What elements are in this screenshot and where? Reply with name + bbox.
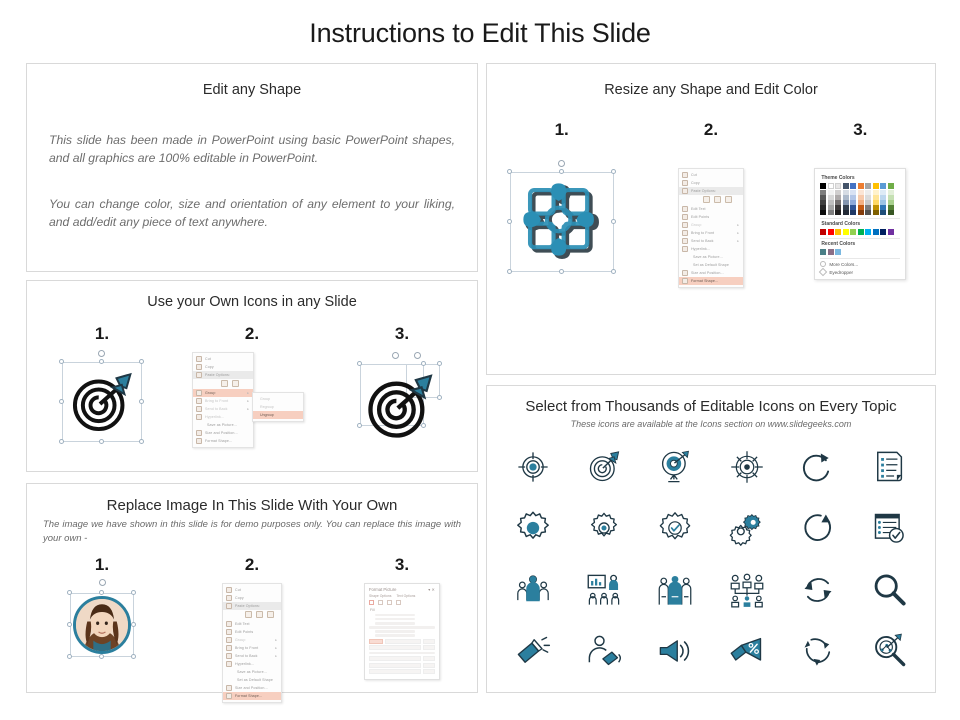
org-chart-icon[interactable] [726,569,768,611]
context-menu[interactable]: Cut Copy Paste Options: Edit Text Edit P… [222,583,282,703]
replace-image-step-1: 1. [27,555,177,703]
copy-icon [196,364,202,370]
menu-item-copy[interactable]: Copy [223,594,281,602]
resize-handle-ne[interactable] [421,361,426,366]
transparency-value[interactable] [423,645,435,650]
menu-item-set-as-default-shape[interactable]: Set as Default Shape [223,676,281,684]
slide-canvas: Instructions to Edit This Slide Edit any… [0,0,960,720]
theme-color-swatch[interactable] [865,183,871,189]
menu-item-send-to-back[interactable]: Send to Back▸ [679,237,743,245]
format-shape-icon [196,438,202,444]
submenu-item-regroup[interactable]: Regroup [253,403,303,411]
resize-handle-e[interactable] [131,622,136,627]
menu-item-edit-points[interactable]: Edit Points [679,213,743,221]
resize-handle-w[interactable] [507,219,512,224]
menu-item-group[interactable]: Group▸ [193,389,253,397]
theme-shade-swatch[interactable] [843,210,849,215]
group-icon [196,390,202,396]
standard-colors-label: Standard Colors [821,221,900,227]
divider [820,218,900,219]
standard-color-swatch[interactable] [858,229,864,235]
option-gradient-fill[interactable] [375,622,415,625]
resize-handle-s[interactable] [99,439,104,444]
step-number: 1. [95,555,109,575]
checklist-check-icon[interactable] [868,507,910,549]
panel-title-resize-shape: Resize any Shape and Edit Color [487,82,935,98]
fill-bucket-icon[interactable] [369,600,374,605]
dartboard-arrow-icon[interactable] [583,446,625,488]
resize-handle-nw[interactable] [507,169,512,174]
presentation-audience-icon[interactable] [583,569,625,611]
step-number: 3. [395,555,409,575]
panel-title-replace-image: Replace Image In This Slide With Your Ow… [27,497,477,514]
format-pane-header: Format Picture ▾ ✕ [369,587,435,592]
paste-picture-icon[interactable] [267,611,274,618]
resize-handle-n[interactable] [559,169,564,174]
shape-selected[interactable] [502,160,622,280]
panel-title-editable-icons: Select from Thousands of Editable Icons … [487,398,935,415]
resize-handle-se[interactable] [139,439,144,444]
rotate-handle-icon[interactable] [99,579,106,586]
panel-use-your-own-icons: Use your Own Icons in any Slide 1. [26,280,478,472]
rotate-handle-icon[interactable] [98,350,105,357]
standard-color-swatch[interactable] [865,229,871,235]
format-field[interactable] [369,669,421,674]
menu-item-group[interactable]: Group▸ [679,221,743,229]
recent-color-swatch[interactable] [828,249,834,255]
bring-to-front-icon [196,398,202,404]
avatar [73,596,131,654]
paste-merge-icon[interactable] [714,196,721,203]
format-row-extra-1 [369,652,435,655]
menu-item-hyperlink[interactable]: Hyperlink... [679,245,743,253]
chevron-right-icon: ▸ [737,223,739,227]
menu-item-size-and-position[interactable]: Size and Position... [679,269,743,277]
own-icons-step-1: 1. [27,324,177,450]
menu-item-format-shape[interactable]: Format Shape... [223,692,281,700]
tab-text-options[interactable]: Text Options [396,594,415,598]
standard-colors-row[interactable] [820,229,900,235]
megaphone-icon[interactable] [512,630,554,672]
recent-colors-label: Recent Colors [821,241,900,247]
resize-handle-w[interactable] [59,399,64,404]
gear-check-icon[interactable] [654,507,696,549]
paste-keep-formatting-icon[interactable] [703,196,710,203]
gear-filled-icon[interactable] [512,507,554,549]
divider [820,238,900,239]
icon-gallery [497,436,925,682]
group-submenu[interactable]: Group Regroup Ungroup [252,392,304,422]
format-field-value[interactable] [423,663,435,668]
four-square-gear-shape-icon [518,180,606,264]
edit-text-icon [226,621,232,627]
step-number: 1. [555,120,569,140]
panel-edit-any-shape: Edit any Shape This slide has been made … [26,63,478,272]
theme-shade-swatch[interactable] [880,210,886,215]
standard-color-swatch[interactable] [873,229,879,235]
own-icons-step-2: 2. Cut Copy Paste Options: Group▸ Bring … [177,324,327,450]
paste-options-row[interactable] [679,195,743,205]
copy-icon [682,180,688,186]
chevron-right-icon: ▸ [275,646,277,650]
resize-handle-nw[interactable] [357,361,362,366]
dartboard-arrow-icon [364,370,436,442]
target-crosshair-icon[interactable] [512,446,554,488]
paste-keep-formatting-icon[interactable] [245,611,252,618]
resize-handle-ne[interactable] [131,590,136,595]
menu-item-bring-to-front[interactable]: Bring to Front▸ [193,397,253,405]
three-arrows-cycle-icon[interactable] [797,630,839,672]
paste-icon [226,603,232,609]
panel-resize-shape-edit-color: Resize any Shape and Edit Color 1. [486,63,936,375]
submenu-item-ungroup[interactable]: Ungroup [253,411,303,419]
paste-icon [196,372,202,378]
resize-handle-s[interactable] [559,269,564,274]
theme-color-swatch[interactable] [850,183,856,189]
chevron-right-icon: ▸ [247,399,249,403]
context-menu[interactable]: Cut Copy Paste Options: Group▸ Bring to … [192,352,254,448]
menu-item-hyperlink[interactable]: Hyperlink... [193,413,253,421]
standard-color-swatch[interactable] [828,229,834,235]
menu-item-send-to-back[interactable]: Send to Back▸ [193,405,253,413]
theme-color-swatch[interactable] [843,183,849,189]
cut-icon [682,172,688,178]
standard-color-swatch[interactable] [820,229,826,235]
format-section-fill: Fill [370,608,435,612]
resize-handle-e[interactable] [611,219,616,224]
size-position-icon [226,685,232,691]
standard-color-swatch[interactable] [843,229,849,235]
edit-points-icon [226,629,232,635]
size-position-icon [196,430,202,436]
format-row-extra-2[interactable] [369,656,435,661]
palette-icon [820,261,826,267]
editable-icons-subtitle: These icons are available at the Icons s… [487,418,935,431]
magnifier-icon[interactable] [868,569,910,611]
step-number: 1. [95,324,109,344]
more-colors-label: More Colors... [829,262,858,267]
standard-color-swatch[interactable] [888,229,894,235]
format-pane-title: Format Picture [369,587,396,592]
own-icons-step-3: 3. [327,324,477,450]
menu-item-cut[interactable]: Cut [193,355,253,363]
menu-item-save-as-picture[interactable]: Save as Picture... [193,421,253,429]
menu-item-edit-text[interactable]: Edit Text [223,620,281,628]
menu-item-edit-points[interactable]: Edit Points [223,628,281,636]
copy-icon [226,595,232,601]
megaphone-percent-icon[interactable] [726,630,768,672]
theme-color-swatch[interactable] [858,183,864,189]
standard-color-swatch[interactable] [880,229,886,235]
resize-handle-se[interactable] [131,654,136,659]
format-field-value[interactable] [423,656,435,661]
menu-item-paste-options[interactable]: Paste Options: [223,602,281,610]
edit-shape-paragraph-2: You can change color, size and orientati… [49,195,455,232]
eyedropper-label: Eyedropper [829,270,853,275]
menu-item-send-to-back[interactable]: Send to Back▸ [223,652,281,660]
theme-colors-top-row[interactable] [820,183,900,189]
person-megaphone-icon[interactable] [583,630,625,672]
bring-to-front-icon [226,645,232,651]
menu-item-paste-options[interactable]: Paste Options: [193,371,253,379]
paste-picture-icon[interactable] [725,196,732,203]
paste-options-row[interactable] [223,610,281,620]
paste-picture-icon[interactable] [232,380,239,387]
submenu-item-group[interactable]: Group [253,395,303,403]
format-row-extra-3[interactable] [369,663,435,668]
resize-handle-sw[interactable] [59,439,64,444]
replace-image-step-2: 2. Cut Copy Paste Options: Edit Text Edi… [177,555,327,703]
divider [820,258,900,259]
cut-icon [196,356,202,362]
theme-shade-swatch[interactable] [835,210,841,215]
resize-handle-sw[interactable] [507,269,512,274]
fill-color-picker-button[interactable] [423,639,435,644]
theme-colors-label: Theme Colors [821,175,900,181]
more-colors-button[interactable]: More Colors... [820,261,900,267]
target-icon-ungrouped[interactable] [356,350,448,450]
step-number: 2. [245,555,259,575]
chevron-right-icon: ▸ [275,654,277,658]
resize-handle-nw[interactable] [59,359,64,364]
theme-shade-swatch[interactable] [888,210,894,215]
chevron-right-icon: ▸ [275,638,277,642]
paste-options-row[interactable] [193,379,253,389]
menu-item-bring-to-front[interactable]: Bring to Front▸ [223,644,281,652]
cut-icon [226,587,232,593]
size-position-icon [682,270,688,276]
close-icon[interactable]: ▾ ✕ [428,587,435,592]
menu-item-save-as-picture[interactable]: Save as Picture... [679,253,743,261]
gear-small-icon[interactable] [583,507,625,549]
menu-item-format-shape[interactable]: Format Shape... [193,437,253,445]
step-number: 2. [245,324,259,344]
theme-color-swatch[interactable] [880,183,886,189]
chevron-right-icon: ▸ [737,239,739,243]
step-number: 3. [853,120,867,140]
edit-points-icon [682,214,688,220]
theme-shade-swatch[interactable] [873,210,879,215]
theme-color-swatch[interactable] [828,183,834,189]
target-icon-selected[interactable] [56,350,148,450]
menu-item-set-as-default-shape[interactable]: Set as Default Shape [679,261,743,269]
format-row-extra-4[interactable] [369,669,435,674]
edit-shape-paragraph-1: This slide has been made in PowerPoint u… [49,131,455,168]
menu-item-format-shape[interactable]: Format Shape... [679,277,743,285]
theme-shade-swatch[interactable] [850,210,856,215]
team-three-icon[interactable] [654,569,696,611]
transparency-slider[interactable] [369,645,421,650]
standard-color-swatch[interactable] [835,229,841,235]
checklist-document-icon[interactable] [868,446,910,488]
effects-icon[interactable] [378,600,383,605]
resize-handle-sw[interactable] [67,654,72,659]
format-field[interactable] [369,656,421,661]
theme-color-swatch[interactable] [888,183,894,189]
menu-item-size-and-position[interactable]: Size and Position... [193,429,253,437]
context-menu[interactable]: Cut Copy Paste Options: Edit Text Edit P… [678,168,744,288]
chevron-right-icon: ▸ [737,231,739,235]
panel-replace-image: Replace Image In This Slide With Your Ow… [26,483,478,693]
portrait-image-selected[interactable] [56,579,148,673]
theme-color-swatch[interactable] [873,183,879,189]
color-picker-panel[interactable]: Theme Colors Standard Colors Recent Colo… [814,168,906,280]
format-shape-icon [682,278,688,284]
format-field[interactable] [369,663,421,668]
two-arrows-cycle-icon[interactable] [797,569,839,611]
resize-handle-ne[interactable] [611,169,616,174]
menu-item-paste-options[interactable]: Paste Options: [679,187,743,195]
recent-color-swatch[interactable] [820,249,826,255]
theme-shade-swatch[interactable] [858,210,864,215]
send-to-back-icon [196,406,202,412]
step-number: 3. [395,324,409,344]
resize-handle-s[interactable] [99,654,104,659]
panel-title-use-your-own-icons: Use your Own Icons in any Slide [27,294,477,310]
refresh-arrow-icon[interactable] [797,446,839,488]
hyperlink-icon [226,661,232,667]
resize-step-2: 2. Cut Copy Paste Options: Edit Text Edi… [636,120,785,288]
menu-item-copy[interactable]: Copy [193,363,253,371]
resize-step-1: 1. [487,120,636,288]
hyperlink-icon [682,246,688,252]
theme-color-swatch[interactable] [820,183,826,189]
fill-color-swatch[interactable] [369,639,383,644]
paste-merge-icon[interactable] [256,611,263,618]
menu-item-cut[interactable]: Cut [679,171,743,179]
option-picture-texture-fill[interactable] [369,626,435,629]
eyedropper-button[interactable]: Eyedropper [820,269,900,275]
eyedropper-icon [819,268,827,276]
format-field-value[interactable] [423,669,435,674]
bring-to-front-icon [682,230,688,236]
fill-color-value[interactable] [385,639,421,644]
recent-color-swatch[interactable] [835,249,841,255]
theme-shade-swatch[interactable] [820,210,826,215]
menu-item-copy[interactable]: Copy [679,179,743,187]
resize-handle-n[interactable] [99,359,104,364]
dartboard-arrow-icon [69,369,135,435]
menu-item-hyperlink[interactable]: Hyperlink... [223,660,281,668]
portrait-photo-icon [76,599,128,651]
menu-item-group[interactable]: Group▸ [223,636,281,644]
resize-handle-ne2[interactable] [437,361,442,366]
crosshair-dot-icon[interactable] [726,446,768,488]
format-shape-icon [226,693,232,699]
format-pane-icon-row[interactable] [369,600,435,605]
context-menu-with-group-submenu[interactable]: Cut Copy Paste Options: Group▸ Bring to … [192,352,312,450]
panel-title-edit-any-shape: Edit any Shape [27,82,477,98]
menu-item-save-as-picture[interactable]: Save as Picture... [223,668,281,676]
resize-handle-nw[interactable] [67,590,72,595]
resize-handle-se[interactable] [611,269,616,274]
replace-image-step-3: 3. Format Picture ▾ ✕ Shape Options Text… [327,555,477,703]
send-to-back-icon [226,653,232,659]
hyperlink-icon [196,414,202,420]
menu-item-bring-to-front[interactable]: Bring to Front▸ [679,229,743,237]
circular-arrow-icon[interactable] [797,507,839,549]
paste-keep-formatting-icon[interactable] [221,380,228,387]
send-to-back-icon [682,238,688,244]
menu-item-edit-text[interactable]: Edit Text [679,205,743,213]
rotate-handle-icon[interactable] [414,352,421,359]
theme-color-swatch[interactable] [835,183,841,189]
picture-icon[interactable] [396,600,401,605]
theme-shade-swatch[interactable] [828,210,834,215]
rotate-handle-icon[interactable] [558,160,565,167]
paste-icon [682,188,688,194]
panel-editable-icons: Select from Thousands of Editable Icons … [486,385,936,693]
group-icon [226,637,232,643]
option-pattern-fill[interactable] [375,630,415,633]
rotate-handle-icon[interactable] [392,352,399,359]
resize-handle-n[interactable] [99,590,104,595]
theme-shade-swatch[interactable] [865,210,871,215]
resize-handle-ne[interactable] [139,359,144,364]
format-pane-tabs[interactable]: Shape Options Text Options [369,594,435,598]
option-no-fill[interactable] [375,614,415,617]
resize-handle-e[interactable] [139,399,144,404]
menu-item-size-and-position[interactable]: Size and Position... [223,684,281,692]
resize-handle-se2[interactable] [437,395,442,400]
resize-step-3: 3. Theme Colors Standard Colors Recent C… [786,120,935,288]
chevron-right-icon: ▸ [247,407,249,411]
option-solid-fill[interactable] [375,618,415,621]
people-group-icon[interactable] [512,569,554,611]
resize-handle-sw[interactable] [357,423,362,428]
recent-colors-row[interactable] [820,249,900,255]
step-number: 2. [704,120,718,140]
group-icon [682,222,688,228]
chevron-right-icon: ▸ [247,391,249,395]
standard-color-swatch[interactable] [850,229,856,235]
fill-color-row[interactable] [369,639,435,644]
menu-item-cut[interactable]: Cut [223,586,281,594]
replace-image-subtitle: The image we have shown in this slide is… [43,518,461,546]
theme-colors-shade-grid[interactable] [820,190,900,215]
loudspeaker-icon[interactable] [654,630,696,672]
page-title: Instructions to Edit This Slide [0,18,960,49]
option-slide-background-fill[interactable] [375,634,415,637]
magnifier-target-icon[interactable] [868,630,910,672]
edit-text-icon [682,206,688,212]
target-stand-icon[interactable] [654,446,696,488]
size-icon[interactable] [387,600,392,605]
double-gear-icon[interactable] [726,507,768,549]
tab-shape-options[interactable]: Shape Options [369,594,391,598]
format-picture-pane[interactable]: Format Picture ▾ ✕ Shape Options Text Op… [364,583,440,680]
resize-handle-w[interactable] [67,622,72,627]
transparency-row[interactable] [369,645,435,650]
